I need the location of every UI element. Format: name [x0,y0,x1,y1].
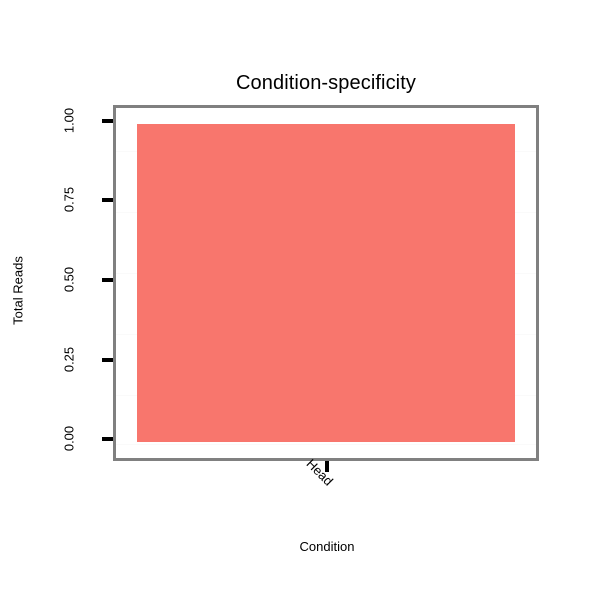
x-axis-title: Condition [300,539,355,554]
plot-panel-inner [116,108,536,458]
y-tick-mark-0.75 [102,198,113,202]
y-tick-label-0.25: 0.25 [62,334,77,384]
y-tick-label-0.00: 0.00 [62,414,77,464]
chart-title-text: Condition-specificity [236,72,416,95]
y-tick-mark-0.00 [102,437,113,441]
plot-panel [113,105,539,461]
y-axis-title: Total Reads [11,231,26,351]
chart-title: Condition-specificity [0,72,600,95]
y-tick-label-0.50: 0.50 [62,255,77,305]
y-tick-label-1.00: 1.00 [62,95,77,145]
gridline-minor [116,444,536,445]
chart-canvas: Condition-specificity 0.00 0.25 0.50 0.7… [0,0,600,600]
bar-head[interactable] [137,124,515,442]
y-tick-mark-0.50 [102,278,113,282]
y-tick-mark-1.00 [102,119,113,123]
y-tick-mark-0.25 [102,358,113,362]
y-tick-label-0.75: 0.75 [62,175,77,225]
